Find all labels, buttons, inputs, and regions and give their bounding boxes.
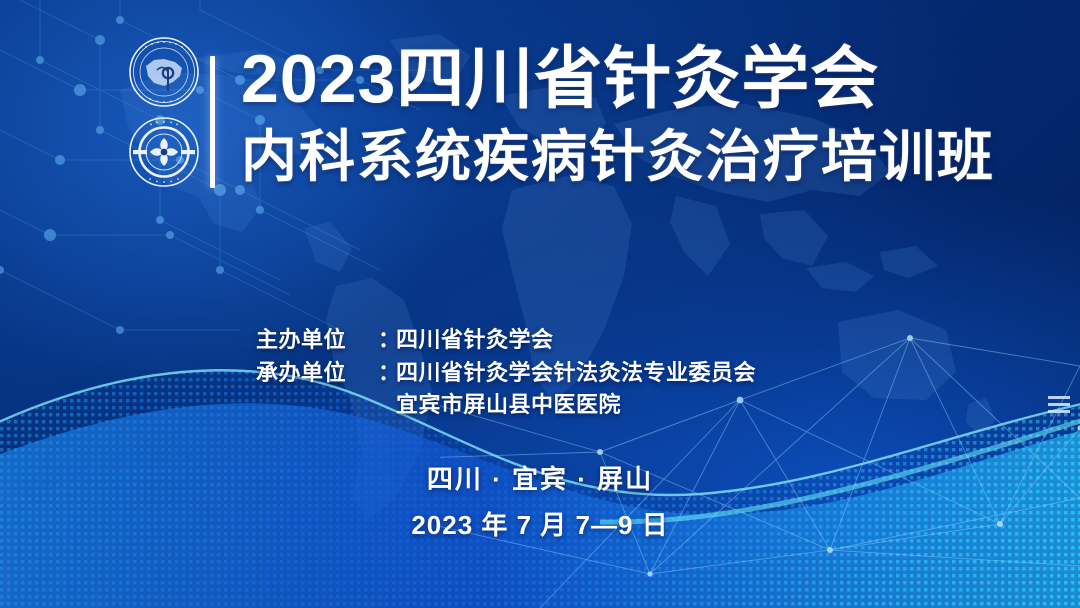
organizer-colon: ： bbox=[378, 324, 396, 357]
organizer-row: 承办单位 ： 宜宾市屏山县中医医院 bbox=[256, 389, 956, 422]
pingshan-tcm-hospital-emblem bbox=[128, 116, 200, 188]
sichuan-acupuncture-society-emblem bbox=[128, 36, 200, 108]
corner-tick-marks bbox=[1048, 396, 1072, 422]
organizer-label: 承办单位 bbox=[256, 357, 378, 390]
organizer-colon: ： bbox=[378, 357, 396, 390]
organizer-row: 承办单位 ： 四川省针灸学会针法灸法专业委员会 bbox=[256, 357, 956, 390]
venue-block: 四川 · 宜宾 · 屏山 2023 年 7 月 7—9 日 bbox=[0, 459, 1080, 542]
organizer-block: 主办单位 ： 四川省针灸学会 承办单位 ： 四川省针灸学会针法灸法专业委员会 承… bbox=[256, 324, 956, 422]
organizer-value: 宜宾市屏山县中医医院 bbox=[396, 389, 956, 422]
organizer-value: 四川省针灸学会 bbox=[396, 324, 956, 357]
organizer-value: 四川省针灸学会针法灸法专业委员会 bbox=[396, 357, 956, 390]
title-line-2: 内科系统疾病针灸治疗培训班 bbox=[241, 129, 1031, 185]
emblem-group bbox=[126, 36, 202, 188]
conference-poster: 2023四川省针灸学会 内科系统疾病针灸治疗培训班 主办单位 ： 四川省针灸学会… bbox=[0, 0, 1080, 608]
organizer-label: 主办单位 bbox=[256, 324, 378, 357]
venue-date: 2023 年 7 月 7—9 日 bbox=[0, 505, 1080, 542]
page-title: 2023四川省针灸学会 内科系统疾病针灸治疗培训班 bbox=[241, 45, 1031, 185]
organizer-row: 主办单位 ： 四川省针灸学会 bbox=[256, 324, 956, 357]
vertical-divider bbox=[210, 56, 215, 188]
title-line-1: 2023四川省针灸学会 bbox=[241, 45, 1031, 113]
venue-location: 四川 · 宜宾 · 屏山 bbox=[0, 459, 1080, 496]
